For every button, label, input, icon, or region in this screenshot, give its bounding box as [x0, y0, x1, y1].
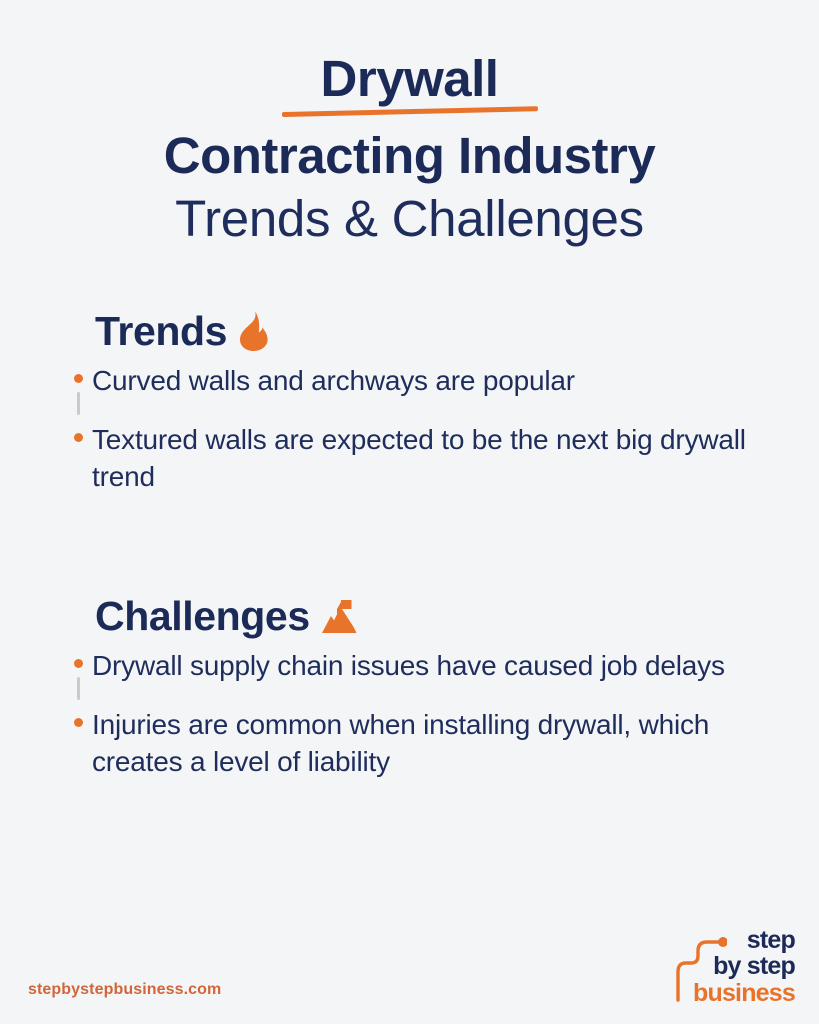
bullet-marker [62, 706, 92, 780]
bullet-dot-icon [74, 659, 83, 668]
section-trends: Trends Curved walls and archways are pop… [62, 306, 782, 495]
bullet-dot-icon [74, 433, 83, 442]
title-block: Drywall Contracting Industry Trends & Ch… [0, 48, 819, 250]
brand-logo[interactable]: step by step business [667, 928, 795, 1004]
bullet-connector-line [77, 392, 80, 415]
list-item-text: Drywall supply chain issues have caused … [92, 647, 725, 684]
mountain-flag-icon [320, 597, 360, 635]
bullet-marker [62, 421, 92, 495]
list-item: Injuries are common when installing dryw… [62, 706, 782, 780]
section-challenges-header: Challenges [95, 591, 782, 641]
section-challenges-title: Challenges [95, 593, 310, 639]
logo-wordmark: step by step business [693, 928, 795, 1006]
logo-line-1: step [693, 928, 795, 953]
logo-line-2: by step [693, 954, 795, 979]
footer-website-url[interactable]: stepbystepbusiness.com [28, 981, 221, 999]
page-title-line-1: Drywall [0, 48, 819, 110]
challenges-bullet-list: Drywall supply chain issues have caused … [62, 647, 782, 780]
list-item-text: Injuries are common when installing dryw… [92, 706, 752, 780]
list-item-text: Textured walls are expected to be the ne… [92, 421, 752, 495]
page-title-line-2: Contracting Industry [0, 124, 819, 188]
section-challenges: Challenges Drywall supply chain issues h… [62, 591, 782, 780]
bullet-dot-icon [74, 374, 83, 383]
flame-icon [237, 310, 271, 352]
trends-bullet-list: Curved walls and archways are popular Te… [62, 362, 782, 495]
section-trends-header: Trends [95, 306, 782, 356]
page-title-line-3: Trends & Challenges [0, 188, 819, 250]
bullet-marker [62, 647, 92, 684]
bullet-marker [62, 362, 92, 399]
section-trends-title: Trends [95, 308, 227, 354]
title-underline-wrap [0, 110, 819, 122]
list-item: Curved walls and archways are popular [62, 362, 782, 399]
list-item: Drywall supply chain issues have caused … [62, 647, 782, 684]
logo-line-3: business [693, 980, 795, 1006]
bullet-connector-line [77, 677, 80, 700]
infographic-canvas: Drywall Contracting Industry Trends & Ch… [0, 0, 819, 1024]
list-item: Textured walls are expected to be the ne… [62, 421, 782, 495]
bullet-dot-icon [74, 718, 83, 727]
list-item-text: Curved walls and archways are popular [92, 362, 575, 399]
